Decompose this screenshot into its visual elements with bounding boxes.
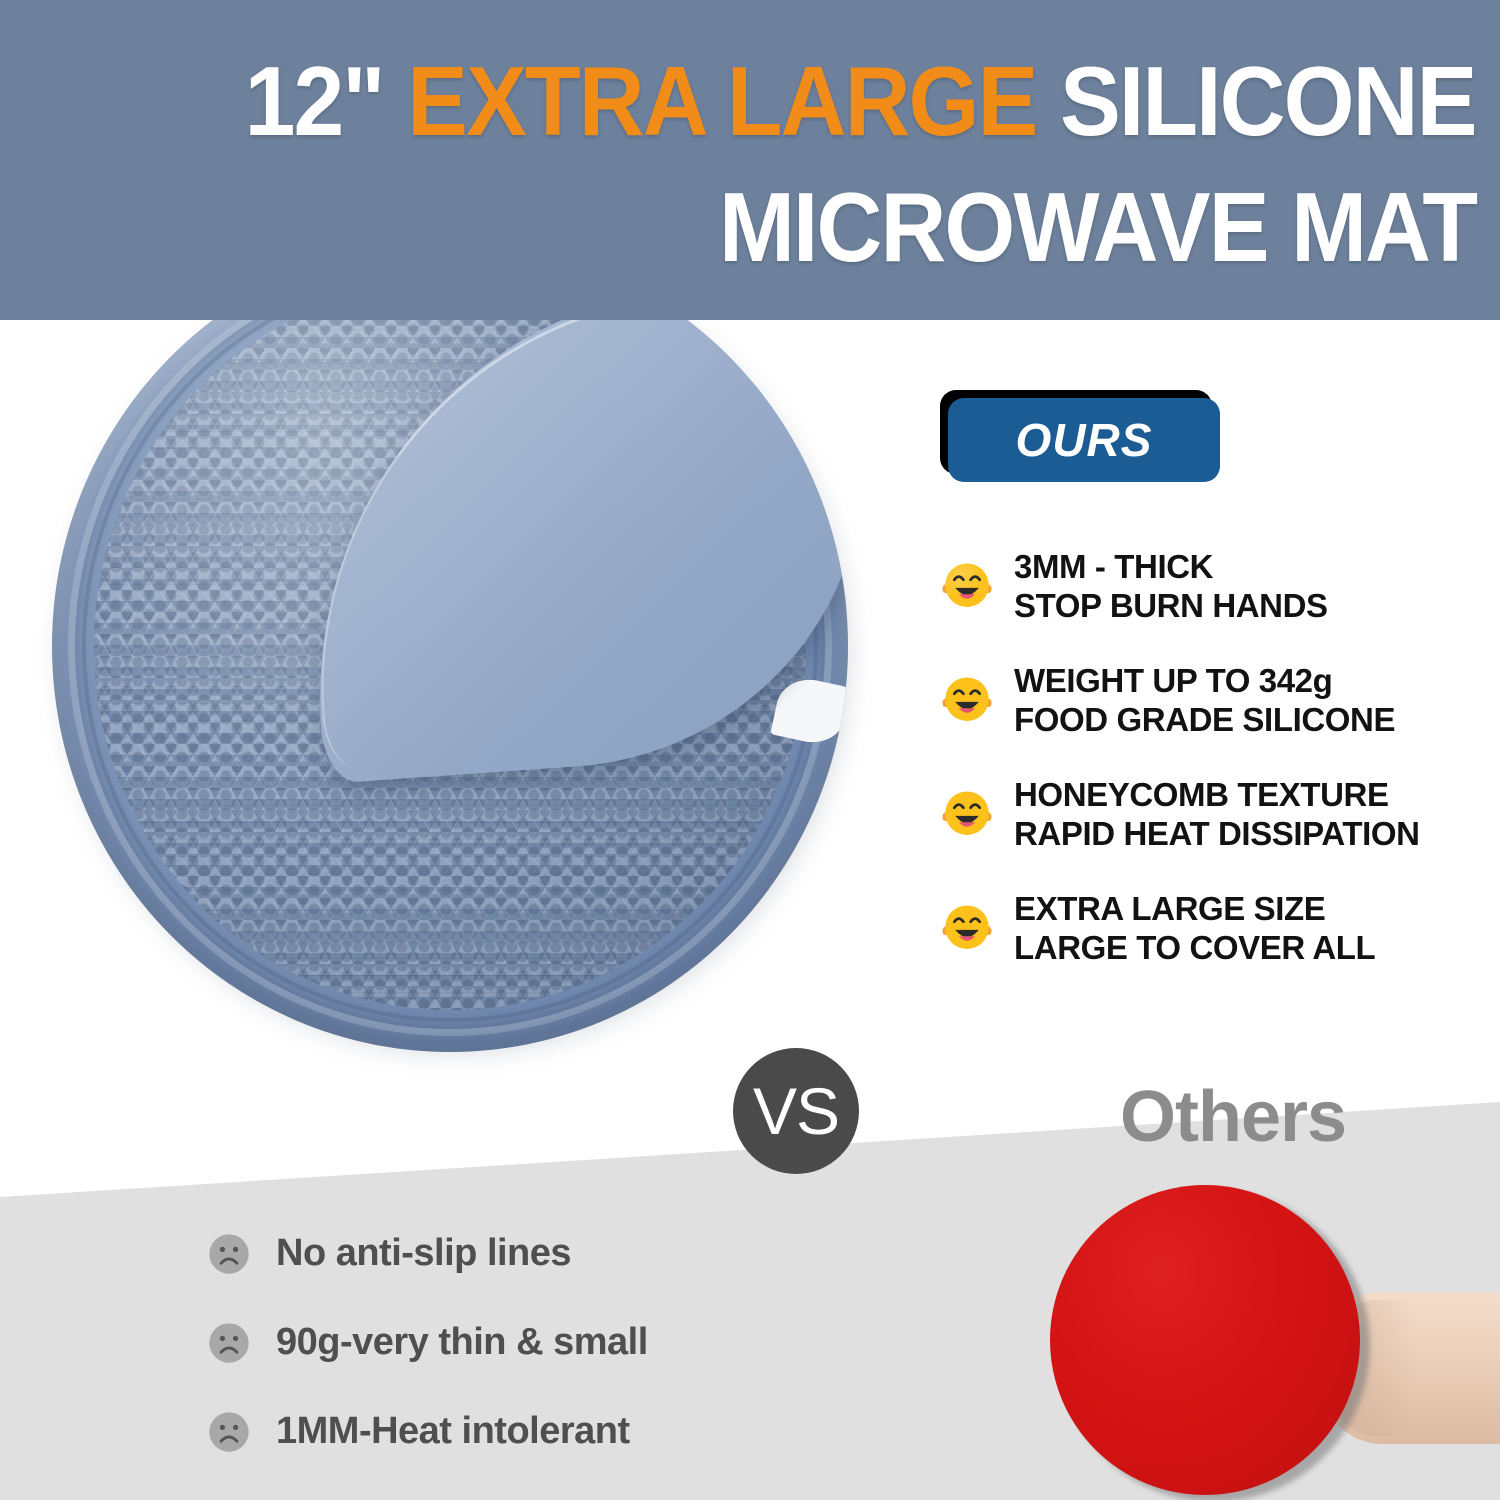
ours-features-list: 3MM - THICKSTOP BURN HANDS WEIGHT UP TO … [938, 548, 1483, 1004]
drawback-text: No anti-slip lines [276, 1232, 571, 1275]
others-title: Others [1120, 1076, 1346, 1158]
feature-line-2: FOOD GRADE SILICONE [1014, 701, 1395, 738]
smiling-face-emoji [938, 900, 996, 958]
title-size-label: 12" [245, 46, 384, 156]
drawback-item: No anti-slip lines [208, 1232, 848, 1275]
others-drawbacks-list: No anti-slip lines 90g-very thin & small [208, 1232, 848, 1499]
feature-line-2: RAPID HEAT DISSIPATION [1014, 815, 1420, 852]
page-title-line-1: 12" EXTRA LARGE SILICONE [245, 52, 1476, 150]
smiling-face-emoji [938, 672, 996, 730]
versus-label: VS [753, 1073, 839, 1149]
title-material-label: SILICONE [1060, 46, 1476, 156]
ours-badge-container: OURS [948, 398, 1220, 482]
mat-body [52, 240, 848, 1052]
title-highlight-label: EXTRA LARGE [408, 46, 1037, 156]
feature-text: HONEYCOMB TEXTURERAPID HEAT DISSIPATION [1014, 776, 1420, 854]
drawback-item: 90g-very thin & small [208, 1321, 848, 1364]
feature-line-1: 3MM - THICK [1014, 548, 1213, 585]
ours-badge-label: OURS [1016, 413, 1153, 467]
feature-item: EXTRA LARGE SIZELARGE TO COVER ALL [938, 890, 1483, 968]
product-infographic: 12" EXTRA LARGE SILICONE MICROWAVE MAT O… [0, 0, 1500, 1500]
competitor-red-mat [1050, 1185, 1360, 1495]
header-banner: 12" EXTRA LARGE SILICONE MICROWAVE MAT [0, 0, 1500, 320]
feature-text: WEIGHT UP TO 342gFOOD GRADE SILICONE [1014, 662, 1395, 740]
silicone-mat-image [52, 240, 852, 1058]
drawback-text: 90g-very thin & small [276, 1321, 648, 1364]
feature-line-1: HONEYCOMB TEXTURE [1014, 776, 1389, 813]
feature-item: 3MM - THICKSTOP BURN HANDS [938, 548, 1483, 626]
feature-item: WEIGHT UP TO 342gFOOD GRADE SILICONE [938, 662, 1483, 740]
smiling-face-emoji [938, 558, 996, 616]
feature-line-2: STOP BURN HANDS [1014, 587, 1328, 624]
feature-text: EXTRA LARGE SIZELARGE TO COVER ALL [1014, 890, 1375, 968]
sad-face-emoji [208, 1322, 250, 1364]
drawback-text: 1MM-Heat intolerant [276, 1410, 630, 1453]
feature-line-1: EXTRA LARGE SIZE [1014, 890, 1325, 927]
feature-line-1: WEIGHT UP TO 342g [1014, 662, 1332, 699]
drawback-item: 1MM-Heat intolerant [208, 1410, 848, 1453]
versus-badge: VS [733, 1048, 859, 1174]
feature-line-2: LARGE TO COVER ALL [1014, 929, 1375, 966]
feature-item: HONEYCOMB TEXTURERAPID HEAT DISSIPATION [938, 776, 1483, 854]
sad-face-emoji [208, 1411, 250, 1453]
smiling-face-emoji [938, 786, 996, 844]
ours-badge: OURS [948, 398, 1220, 482]
feature-text: 3MM - THICKSTOP BURN HANDS [1014, 548, 1328, 626]
page-title-line-2: MICROWAVE MAT [719, 178, 1476, 276]
sad-face-emoji [208, 1233, 250, 1275]
